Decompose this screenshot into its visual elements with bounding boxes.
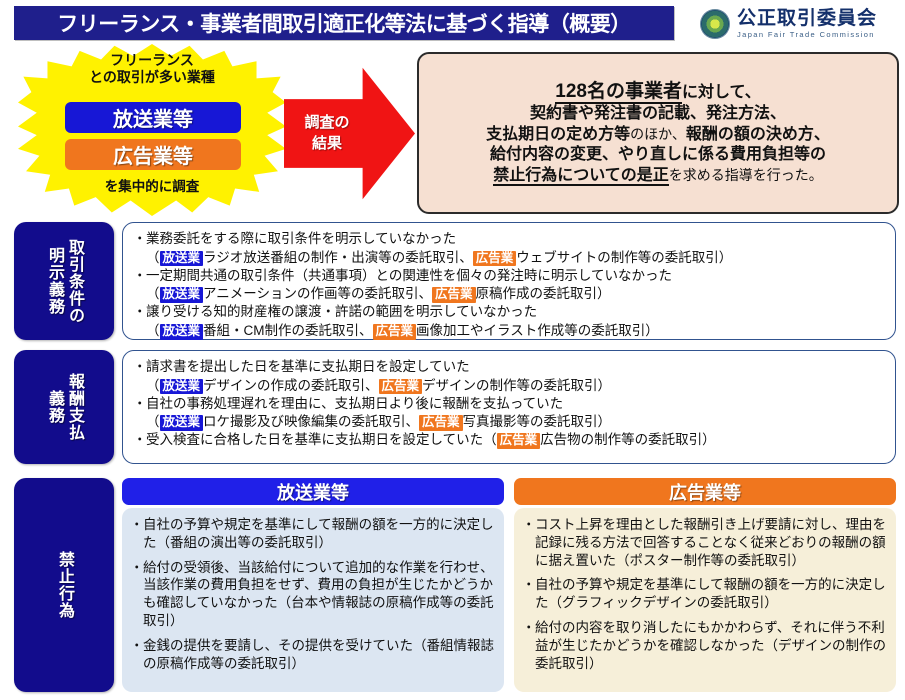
bullet-marker: ・	[133, 230, 146, 248]
column-broadcast: 放送業等 ・ 自社の予算や規定を基準にして報酬の額を一方的に決定した（番組の演出…	[122, 478, 504, 692]
tag-advertising: 広告業	[497, 433, 541, 449]
sidebar-item-payment-duty[interactable]: 報酬支払義務	[14, 350, 114, 464]
survey-result-arrow-icon: 調査の 結果	[284, 62, 415, 205]
starburst-footer: を集中的に調査	[18, 175, 286, 195]
paren-open: （	[146, 414, 160, 429]
logo-name-jp: 公正取引委員会	[737, 9, 877, 28]
bullet-examples: （放送業ラジオ放送番組の制作・出演等の委託取引、広告業ウェブサイトの制作等の委託…	[133, 249, 887, 267]
paren-open: （	[146, 286, 160, 301]
result-line-5: 禁止行為についての是正を求める指導を行った。	[419, 166, 897, 186]
list-item: ・ 自社の予算や規定を基準にして報酬の額を一方的に決定した（グラフィックデザイン…	[522, 576, 887, 612]
column-body-broadcast: ・ 自社の予算や規定を基準にして報酬の額を一方的に決定した（番組の演出等の委託取…	[122, 508, 504, 692]
tag-advertising: 広告業	[473, 251, 517, 267]
result-line-3: 支払期日の定め方等のほか、報酬の額の決め方、	[419, 125, 897, 145]
page-header: フリーランス・事業者間取引適正化等法に基づく指導（概要）	[14, 6, 674, 40]
tag-advertising: 広告業	[373, 324, 417, 340]
result-count: 128名の事業者	[555, 81, 682, 104]
tag-broadcast: 放送業	[160, 251, 204, 267]
bullet-text: 請求書を提出した日を基準に支払期日を設定していた	[146, 358, 887, 376]
list-item: ・ 給付の内容を取り消したにもかかわらず、それに伴う不利益が生じたかどうかを確認…	[522, 619, 887, 672]
bullet-text: 一定期間共通の取引条件（共通事項）との関連性を個々の発注時に明示していなかった	[146, 267, 887, 285]
paren-open: （	[146, 323, 160, 338]
section-prohibited-acts: 禁止行為 放送業等 ・ 自社の予算や規定を基準にして報酬の額を一方的に決定した（…	[14, 478, 896, 692]
tag-broadcast: 放送業	[160, 287, 204, 303]
result-line3-b: のほか、	[630, 126, 686, 142]
column-header-broadcast: 放送業等	[122, 478, 504, 505]
result-line5-a: 禁止行為についての是正	[493, 167, 669, 186]
list-item: ・ 受入検査に合格した日を基準に支払期日を設定していた（広告業広告物の制作等の委…	[133, 431, 887, 449]
sidebar-item-disclosure-duty[interactable]: 取引条件の明示義務	[14, 222, 114, 340]
bullet-text: 自社の事務処理遅れを理由に、支払期日より後に報酬を支払っていた	[146, 395, 887, 413]
bullet-marker: ・	[133, 358, 146, 376]
starburst-caption-line2: との取引が多い業種	[18, 69, 286, 86]
bullet-text-post: 広告物の制作等の委託取引）	[540, 432, 716, 447]
example-text-2: デザインの制作等の委託取引）	[422, 378, 611, 393]
tab-col-2: 義務	[46, 390, 63, 424]
starburst-caption-line1: フリーランス	[18, 52, 286, 69]
jftc-emblem-icon	[700, 9, 730, 39]
bullet-marker: ・	[130, 559, 143, 630]
section-tab-label: 禁止行為	[54, 551, 74, 619]
tag-advertising: 広告業	[432, 287, 476, 303]
bullet-text-pre: 受入検査に合格した日を基準に支払期日を設定していた（	[146, 432, 497, 447]
example-text-1: ロケ撮影及び映像編集の委託取引、	[203, 414, 419, 429]
chip-broadcast: 放送業等	[65, 102, 241, 133]
result-text: 128名の事業者に対して、 契約書や発注書の記載、発注方法、 支払期日の定め方等…	[419, 80, 897, 186]
example-text-2: 原稿作成の委託取引）	[476, 286, 611, 301]
bullet-text: 業務委託をする際に取引条件を明示していなかった	[146, 230, 887, 248]
section-payment-duty: 報酬支払義務 ・ 請求書を提出した日を基準に支払期日を設定していた （放送業デザ…	[14, 350, 896, 464]
tag-advertising: 広告業	[379, 379, 423, 395]
bullet-text: 金銭の提供を要請し、その提供を受けていた（番組情報誌の原稿作成等の委託取引）	[143, 637, 495, 673]
section-tab-label: 報酬支払義務	[44, 373, 84, 441]
tag-broadcast: 放送業	[160, 379, 204, 395]
list-item: ・ 業務委託をする際に取引条件を明示していなかった	[133, 230, 887, 248]
bullet-text-inline: 受入検査に合格した日を基準に支払期日を設定していた（広告業広告物の制作等の委託取…	[146, 431, 887, 449]
list-item: ・ コスト上昇を理由とした報酬引き上げ要請に対し、理由を記録に残る方法で回答する…	[522, 516, 887, 569]
tab-col-1: 取引条件の	[66, 239, 83, 324]
bullet-marker: ・	[522, 576, 535, 612]
page-title: フリーランス・事業者間取引適正化等法に基づく指導（概要）	[57, 8, 631, 38]
chip-advertising: 広告業等	[65, 139, 241, 170]
bullet-examples: （放送業ロケ撮影及び映像編集の委託取引、広告業写真撮影等の委託取引）	[133, 413, 887, 431]
bullet-text: 給付の受領後、当該給付について追加的な作業を行わせ、当該作業の費用負担をせず、費…	[143, 559, 495, 630]
example-text-2: ウェブサイトの制作等の委託取引）	[516, 250, 732, 265]
result-summary-box: 128名の事業者に対して、 契約書や発注書の記載、発注方法、 支払期日の定め方等…	[417, 52, 899, 214]
logo-name-en: Japan Fair Trade Commission	[737, 31, 877, 39]
result-line1-rest: に対して、	[682, 84, 761, 101]
tag-broadcast: 放送業	[160, 324, 204, 340]
arrow-label-line2: 結果	[288, 134, 366, 154]
list-item: ・ 自社の予算や規定を基準にして報酬の額を一方的に決定した（番組の演出等の委託取…	[130, 516, 495, 552]
bullet-text: コスト上昇を理由とした報酬引き上げ要請に対し、理由を記録に残る方法で回答すること…	[535, 516, 887, 569]
column-body-advertising: ・ コスト上昇を理由とした報酬引き上げ要請に対し、理由を記録に残る方法で回答する…	[514, 508, 896, 692]
result-line3-c: 報酬の額の決め方、	[686, 126, 830, 143]
list-item: ・ 給付の受領後、当該給付について追加的な作業を行わせ、当該作業の費用負担をせず…	[130, 559, 495, 630]
result-line-2: 契約書や発注書の記載、発注方法、	[419, 104, 897, 124]
bullet-examples: （放送業デザインの作成の委託取引、広告業デザインの制作等の委託取引）	[133, 377, 887, 395]
column-advertising: 広告業等 ・ コスト上昇を理由とした報酬引き上げ要請に対し、理由を記録に残る方法…	[514, 478, 896, 692]
bullet-marker: ・	[130, 637, 143, 673]
arrow-label: 調査の 結果	[288, 113, 366, 154]
example-text-1: デザインの作成の委託取引、	[203, 378, 379, 393]
list-item: ・ 請求書を提出した日を基準に支払期日を設定していた	[133, 358, 887, 376]
result-line5-b: を求める指導を行った。	[669, 167, 823, 183]
tab-col-1: 報酬支払	[66, 373, 83, 441]
tag-broadcast: 放送業	[160, 415, 204, 431]
survey-target-starburst: フリーランス との取引が多い業種 放送業等 広告業等 を集中的に調査	[18, 44, 286, 216]
example-text-1: 番組・CM制作の委託取引、	[203, 323, 373, 338]
sidebar-item-prohibited-acts[interactable]: 禁止行為	[14, 478, 114, 692]
paren-open: （	[146, 250, 160, 265]
example-text-1: アニメーションの作画等の委託取引、	[203, 286, 432, 301]
list-item: ・ 譲り受ける知的財産権の譲渡・許諾の範囲を明示していなかった	[133, 303, 887, 321]
bullet-marker: ・	[133, 303, 146, 321]
list-item: ・ 一定期間共通の取引条件（共通事項）との関連性を個々の発注時に明示していなかっ…	[133, 267, 887, 285]
example-text-2: 写真撮影等の委託取引）	[463, 414, 612, 429]
example-text-1: ラジオ放送番組の制作・出演等の委託取引、	[203, 250, 473, 265]
bullet-marker: ・	[133, 395, 146, 413]
result-line-4: 給付内容の変更、やり直しに係る費用負担等の	[419, 145, 897, 165]
column-header-advertising: 広告業等	[514, 478, 896, 505]
example-text-2: 画像加工やイラスト作成等の委託取引）	[416, 323, 659, 338]
starburst-caption: フリーランス との取引が多い業種	[18, 52, 286, 85]
bullet-text: 自社の予算や規定を基準にして報酬の額を一方的に決定した（グラフィックデザインの委…	[535, 576, 887, 612]
list-item: ・ 自社の事務処理遅れを理由に、支払期日より後に報酬を支払っていた	[133, 395, 887, 413]
prohibited-columns: 放送業等 ・ 自社の予算や規定を基準にして報酬の額を一方的に決定した（番組の演出…	[122, 478, 896, 692]
paren-open: （	[146, 378, 160, 393]
result-line3-a: 支払期日の定め方等	[486, 126, 630, 143]
bullet-marker: ・	[130, 516, 143, 552]
section-content: ・ 業務委託をする際に取引条件を明示していなかった （放送業ラジオ放送番組の制作…	[122, 222, 896, 340]
result-line-1: 128名の事業者に対して、	[419, 80, 897, 104]
bullet-marker: ・	[133, 267, 146, 285]
section-content: ・ 請求書を提出した日を基準に支払期日を設定していた （放送業デザインの作成の委…	[122, 350, 896, 464]
list-item: ・ 金銭の提供を要請し、その提供を受けていた（番組情報誌の原稿作成等の委託取引）	[130, 637, 495, 673]
arrow-label-line1: 調査の	[288, 113, 366, 133]
bullet-examples: （放送業アニメーションの作画等の委託取引、広告業原稿作成の委託取引）	[133, 285, 887, 303]
logo-text-block: 公正取引委員会 Japan Fair Trade Commission	[737, 9, 877, 39]
infographic-page: フリーランス・事業者間取引適正化等法に基づく指導（概要） 公正取引委員会 Jap…	[0, 0, 905, 700]
bullet-text: 自社の予算や規定を基準にして報酬の額を一方的に決定した（番組の演出等の委託取引）	[143, 516, 495, 552]
tag-advertising: 広告業	[419, 415, 463, 431]
section-tab-label: 取引条件の明示義務	[44, 239, 84, 324]
bullet-examples: （放送業番組・CM制作の委託取引、広告業画像加工やイラスト作成等の委託取引）	[133, 322, 887, 340]
section-disclosure-duty: 取引条件の明示義務 ・ 業務委託をする際に取引条件を明示していなかった （放送業…	[14, 222, 896, 340]
bullet-marker: ・	[522, 516, 535, 569]
bullet-marker: ・	[133, 431, 146, 449]
bullet-text: 譲り受ける知的財産権の譲渡・許諾の範囲を明示していなかった	[146, 303, 887, 321]
bullet-text: 給付の内容を取り消したにもかかわらず、それに伴う不利益が生じたかどうかを確認しな…	[535, 619, 887, 672]
tab-col-2: 明示義務	[46, 247, 63, 315]
bullet-marker: ・	[522, 619, 535, 672]
jftc-logo: 公正取引委員会 Japan Fair Trade Commission	[700, 6, 896, 42]
